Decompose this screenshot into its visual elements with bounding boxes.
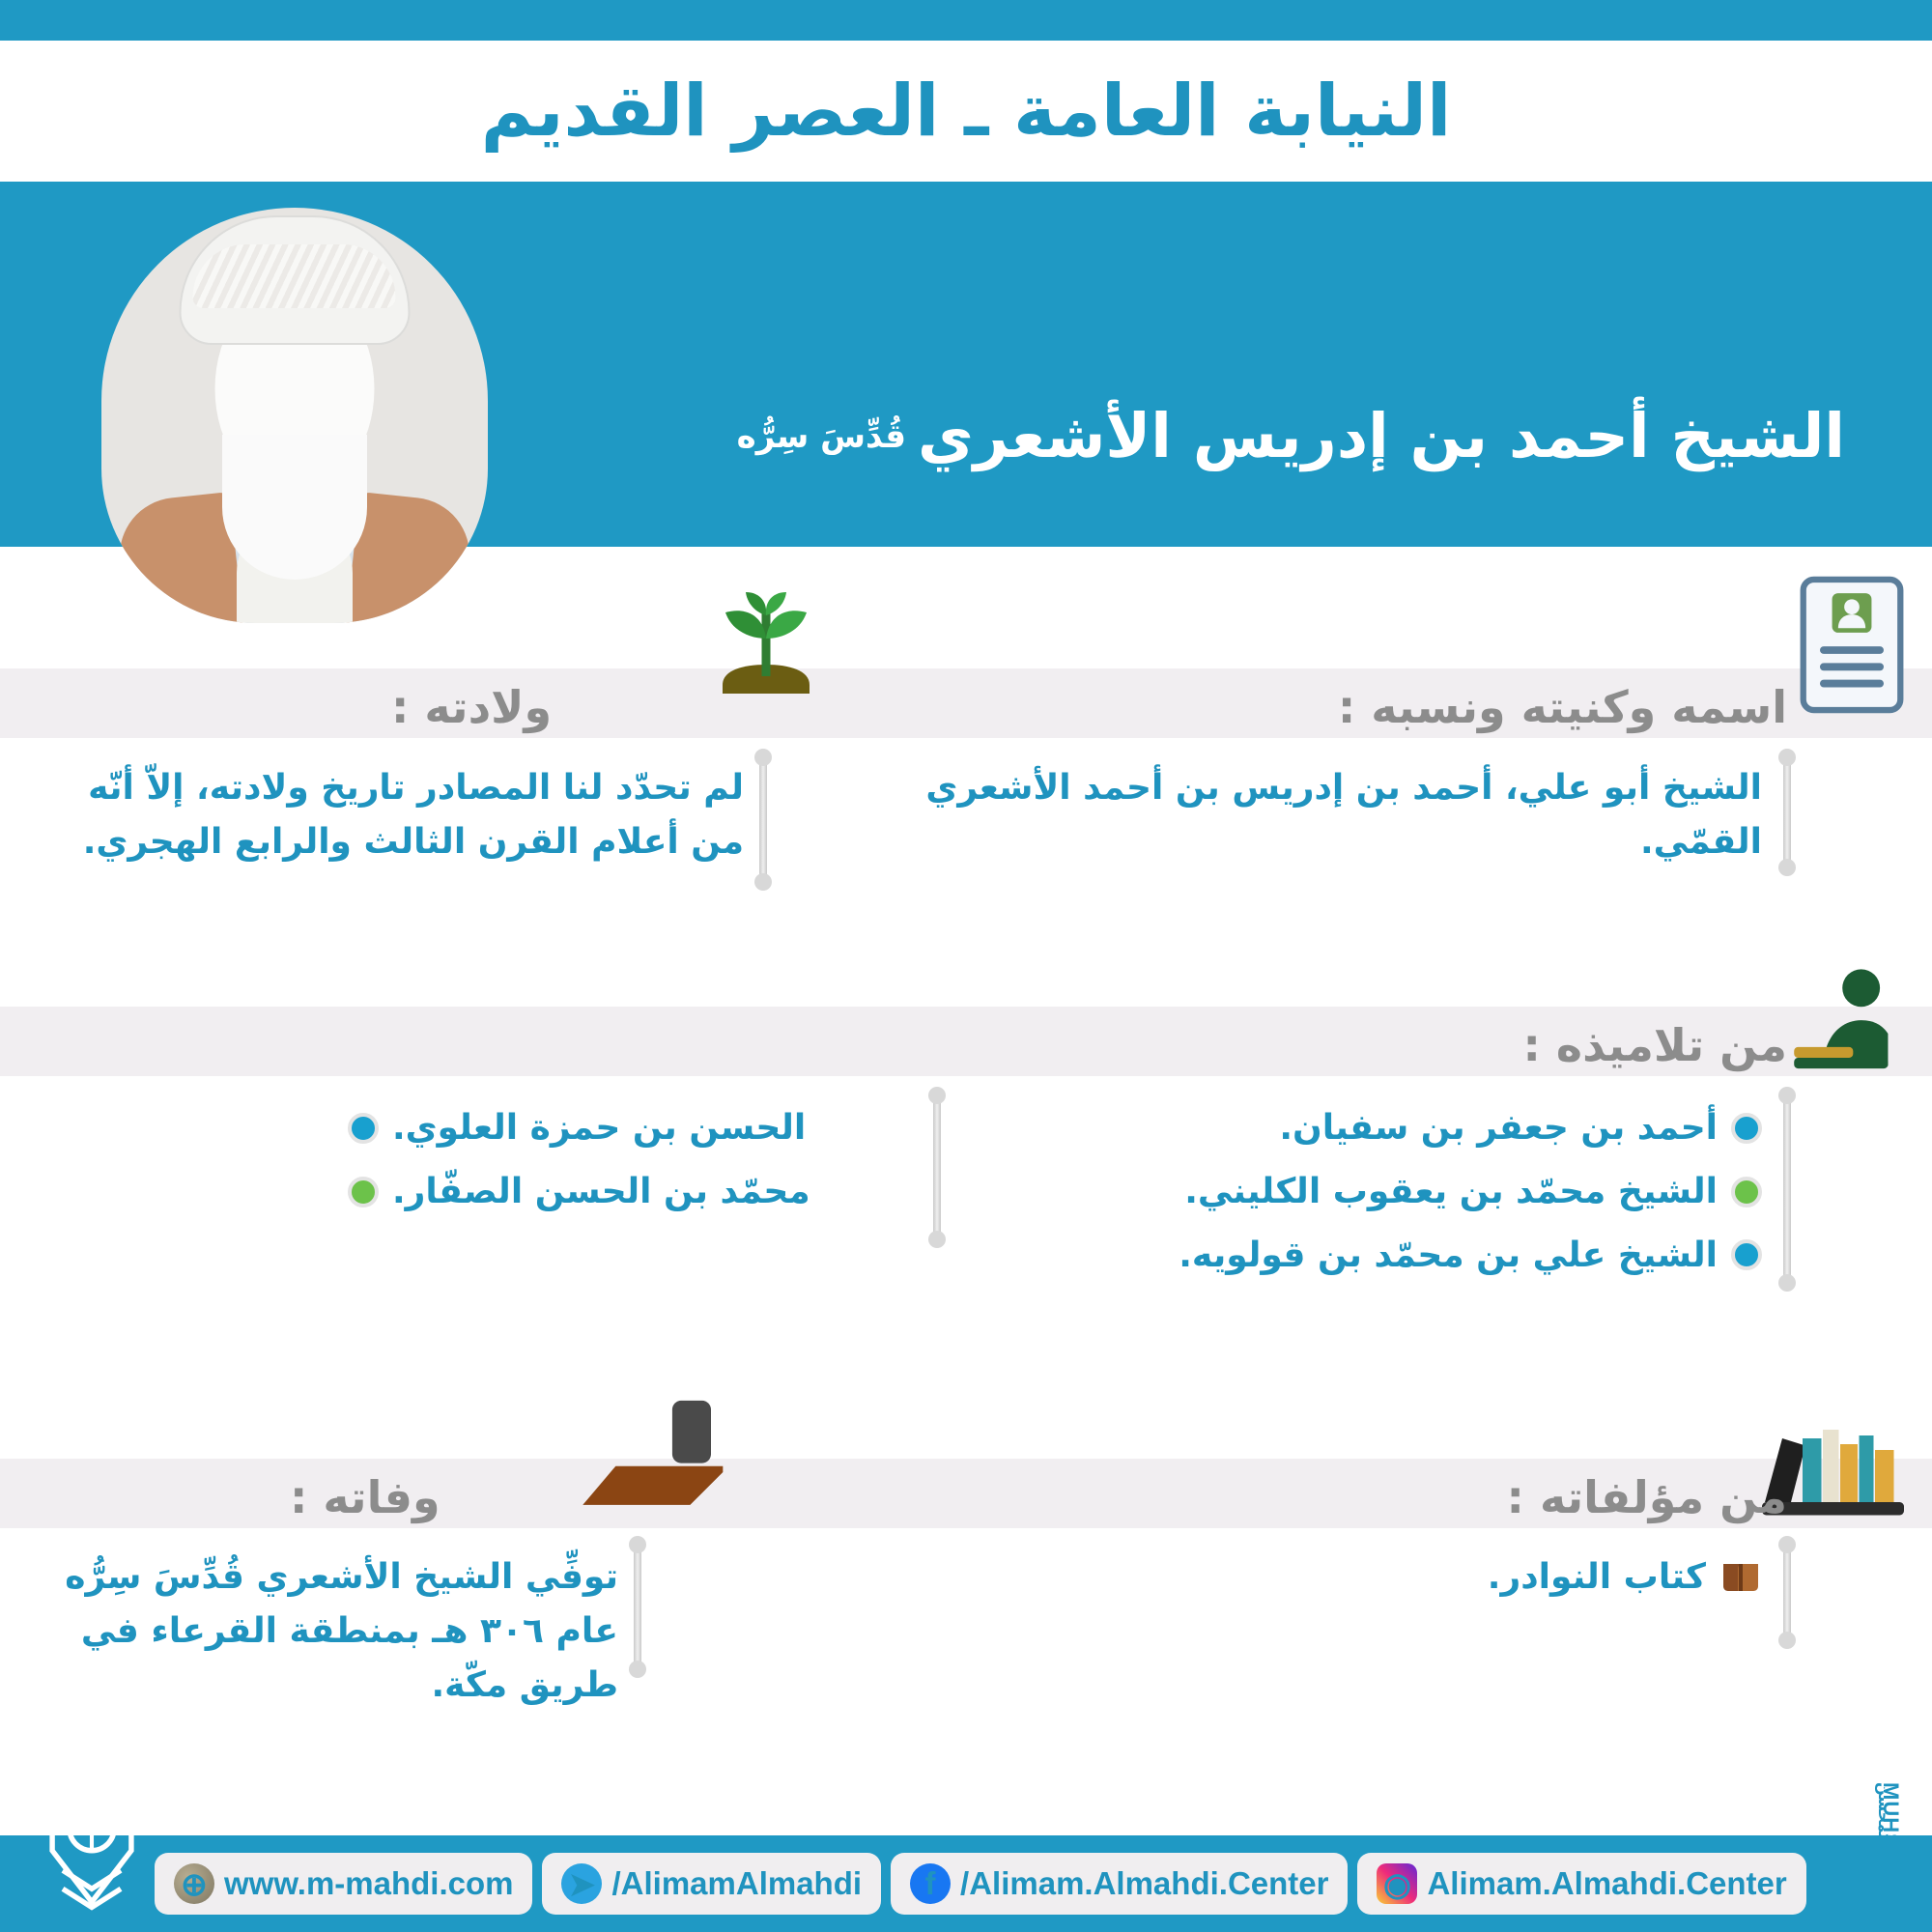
divider-stand-1 bbox=[1783, 758, 1791, 865]
sprout-icon bbox=[694, 589, 838, 720]
section-title-works: من مؤلفاته : bbox=[1507, 1471, 1787, 1523]
footer-link-label: www.m-mahdi.com bbox=[224, 1865, 513, 1902]
telegram-icon: ➤ bbox=[561, 1863, 602, 1904]
portrait-turban bbox=[180, 215, 411, 345]
person-honorific: قُدِّسَ سِرُّه bbox=[737, 417, 906, 456]
footer-link-telegram[interactable]: ➤ /AlimamAlmahdi bbox=[542, 1853, 881, 1915]
top-accent-bar bbox=[0, 0, 1932, 41]
divider-stand-5 bbox=[1783, 1546, 1791, 1637]
footer-links: ◉ Alimam.Almahdi.Center f /Alimam.Almahd… bbox=[155, 1853, 1806, 1915]
footer-link-instagram[interactable]: ◉ Alimam.Almahdi.Center bbox=[1357, 1853, 1805, 1915]
grave-icon bbox=[568, 1391, 747, 1526]
student-name: الشيخ محمّد بن يعقوب الكليني. bbox=[1184, 1165, 1718, 1219]
title-band: النيابة العامة ـ العصر القديم bbox=[0, 41, 1932, 182]
footer-link-label: /AlimamAlmahdi bbox=[611, 1865, 862, 1902]
footer-link-label: /Alimam.Almahdi.Center bbox=[960, 1865, 1328, 1902]
divider-stand-6 bbox=[634, 1546, 641, 1666]
bullet-dot bbox=[348, 1177, 379, 1207]
bullet-dot bbox=[348, 1113, 379, 1144]
instagram-icon: ◉ bbox=[1377, 1863, 1417, 1904]
divider-stand-4 bbox=[933, 1096, 941, 1236]
students-list-left: الحسن بن حمزة العلوي. محمّد بن الحسن الص… bbox=[348, 1101, 927, 1229]
list-item: كتاب النوادر. bbox=[796, 1550, 1762, 1605]
footer-link-website[interactable]: ⊕ www.m-mahdi.com bbox=[155, 1853, 532, 1915]
student-name: الشيخ علي بن محمّد بن قولويه. bbox=[1179, 1229, 1718, 1283]
student-name: أحمد بن جعفر بن سفيان. bbox=[1279, 1101, 1718, 1155]
person-name-text: الشيخ أحمد بن إدريس الأشعري bbox=[918, 401, 1845, 471]
footer-link-label: Alimam.Almahdi.Center bbox=[1427, 1865, 1786, 1902]
portrait-beard bbox=[222, 435, 367, 580]
divider-stand-2 bbox=[759, 758, 767, 879]
globe-icon: ⊕ bbox=[174, 1863, 214, 1904]
id-card-icon bbox=[1799, 575, 1905, 715]
name-lineage-text: الشيخ أبو علي، أحمد بن إدريس بن أحمد الأ… bbox=[796, 761, 1762, 869]
death-text: توفِّي الشيخ الأشعري قُدِّسَ سِرُّه عام … bbox=[39, 1550, 618, 1712]
birth-text: لم تحدّد لنا المصادر تاريخ ولادته، إلاّ … bbox=[29, 761, 744, 869]
section-title-students: من تلاميذه : bbox=[1523, 1019, 1787, 1071]
section-title-death: وفاته : bbox=[290, 1471, 440, 1523]
bullet-dot bbox=[1731, 1113, 1762, 1144]
infographic-page: النيابة العامة ـ العصر القديم الشيخ أحمد… bbox=[0, 0, 1932, 1932]
section-title-birth: ولادته : bbox=[391, 681, 552, 733]
list-item: الشيخ علي بن محمّد بن قولويه. bbox=[738, 1229, 1762, 1283]
bullet-dot bbox=[1731, 1239, 1762, 1270]
page-title: النيابة العامة ـ العصر القديم bbox=[481, 75, 1452, 147]
footer-link-facebook[interactable]: f /Alimam.Almahdi.Center bbox=[891, 1853, 1348, 1915]
bullet-dot bbox=[1731, 1177, 1762, 1207]
student-name: الحسن بن حمزة العلوي. bbox=[392, 1101, 806, 1155]
person-name: الشيخ أحمد بن إدريس الأشعري قُدِّسَ سِرُ… bbox=[737, 401, 1845, 471]
avatar bbox=[101, 208, 488, 623]
student-icon bbox=[1777, 961, 1913, 1082]
list-item: الحسن بن حمزة العلوي. bbox=[348, 1101, 927, 1155]
facebook-icon: f bbox=[910, 1863, 951, 1904]
works-list: كتاب النوادر. bbox=[796, 1550, 1762, 1614]
divider-stand-3 bbox=[1783, 1096, 1791, 1280]
student-name: محمّد بن الحسن الصفّار. bbox=[392, 1165, 810, 1219]
center-logo bbox=[24, 1776, 159, 1920]
section-title-name-lineage: اسمه وكنيته ونسبه : bbox=[1338, 681, 1787, 733]
book-icon bbox=[1719, 1560, 1762, 1595]
work-title: كتاب النوادر. bbox=[1488, 1550, 1706, 1605]
list-item: محمّد بن الحسن الصفّار. bbox=[348, 1165, 927, 1219]
